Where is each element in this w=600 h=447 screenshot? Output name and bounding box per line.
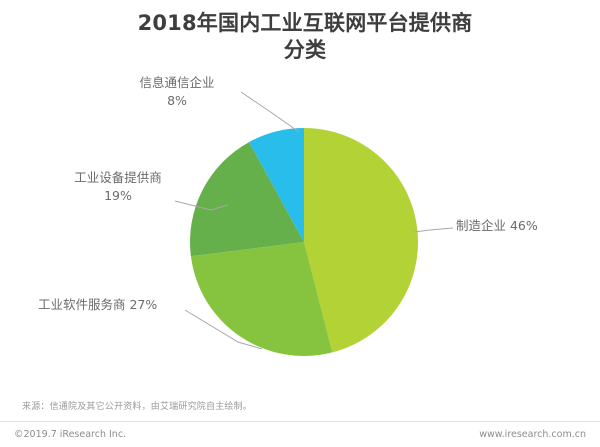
source-note: 来源：信通院及其它公开资料，由艾瑞研究院自主绘制。 [22,399,252,412]
slice-label-ruanjian: 工业软件服务商 27% [38,296,157,314]
slice-label-zhizao: 制造企业 46% [456,217,538,235]
footer-bar: ©2019.7 iResearch Inc. www.iresearch.com… [0,421,600,447]
title-line-1: 2018年国内工业互联网平台提供商 [138,11,473,35]
footer-copyright: ©2019.7 iResearch Inc. [14,429,126,440]
page-title: 2018年国内工业互联网平台提供商 分类 [95,10,515,64]
slice-label-xinxi-name: 信息通信企业 [139,75,214,90]
slice-label-shebei-name: 工业设备提供商 [74,170,162,185]
leader-line-xinxi [241,92,299,132]
pie-chart [190,128,418,356]
leader-line-zhizao [414,228,453,232]
slice-label-xinxi-pct: 8% [113,92,241,110]
footer-website[interactable]: www.iresearch.com.cn [479,429,586,440]
slice-label-shebei: 工业设备提供商 19% [48,169,188,205]
chart-page: 2018年国内工业互联网平台提供商 分类 信息通信企业 8% 工业设备提供商 1… [0,0,600,447]
title-line-2: 分类 [95,37,515,64]
slice-label-shebei-pct: 19% [48,187,188,205]
pie-chart-svg [190,128,418,356]
slice-label-xinxi: 信息通信企业 8% [113,74,241,110]
